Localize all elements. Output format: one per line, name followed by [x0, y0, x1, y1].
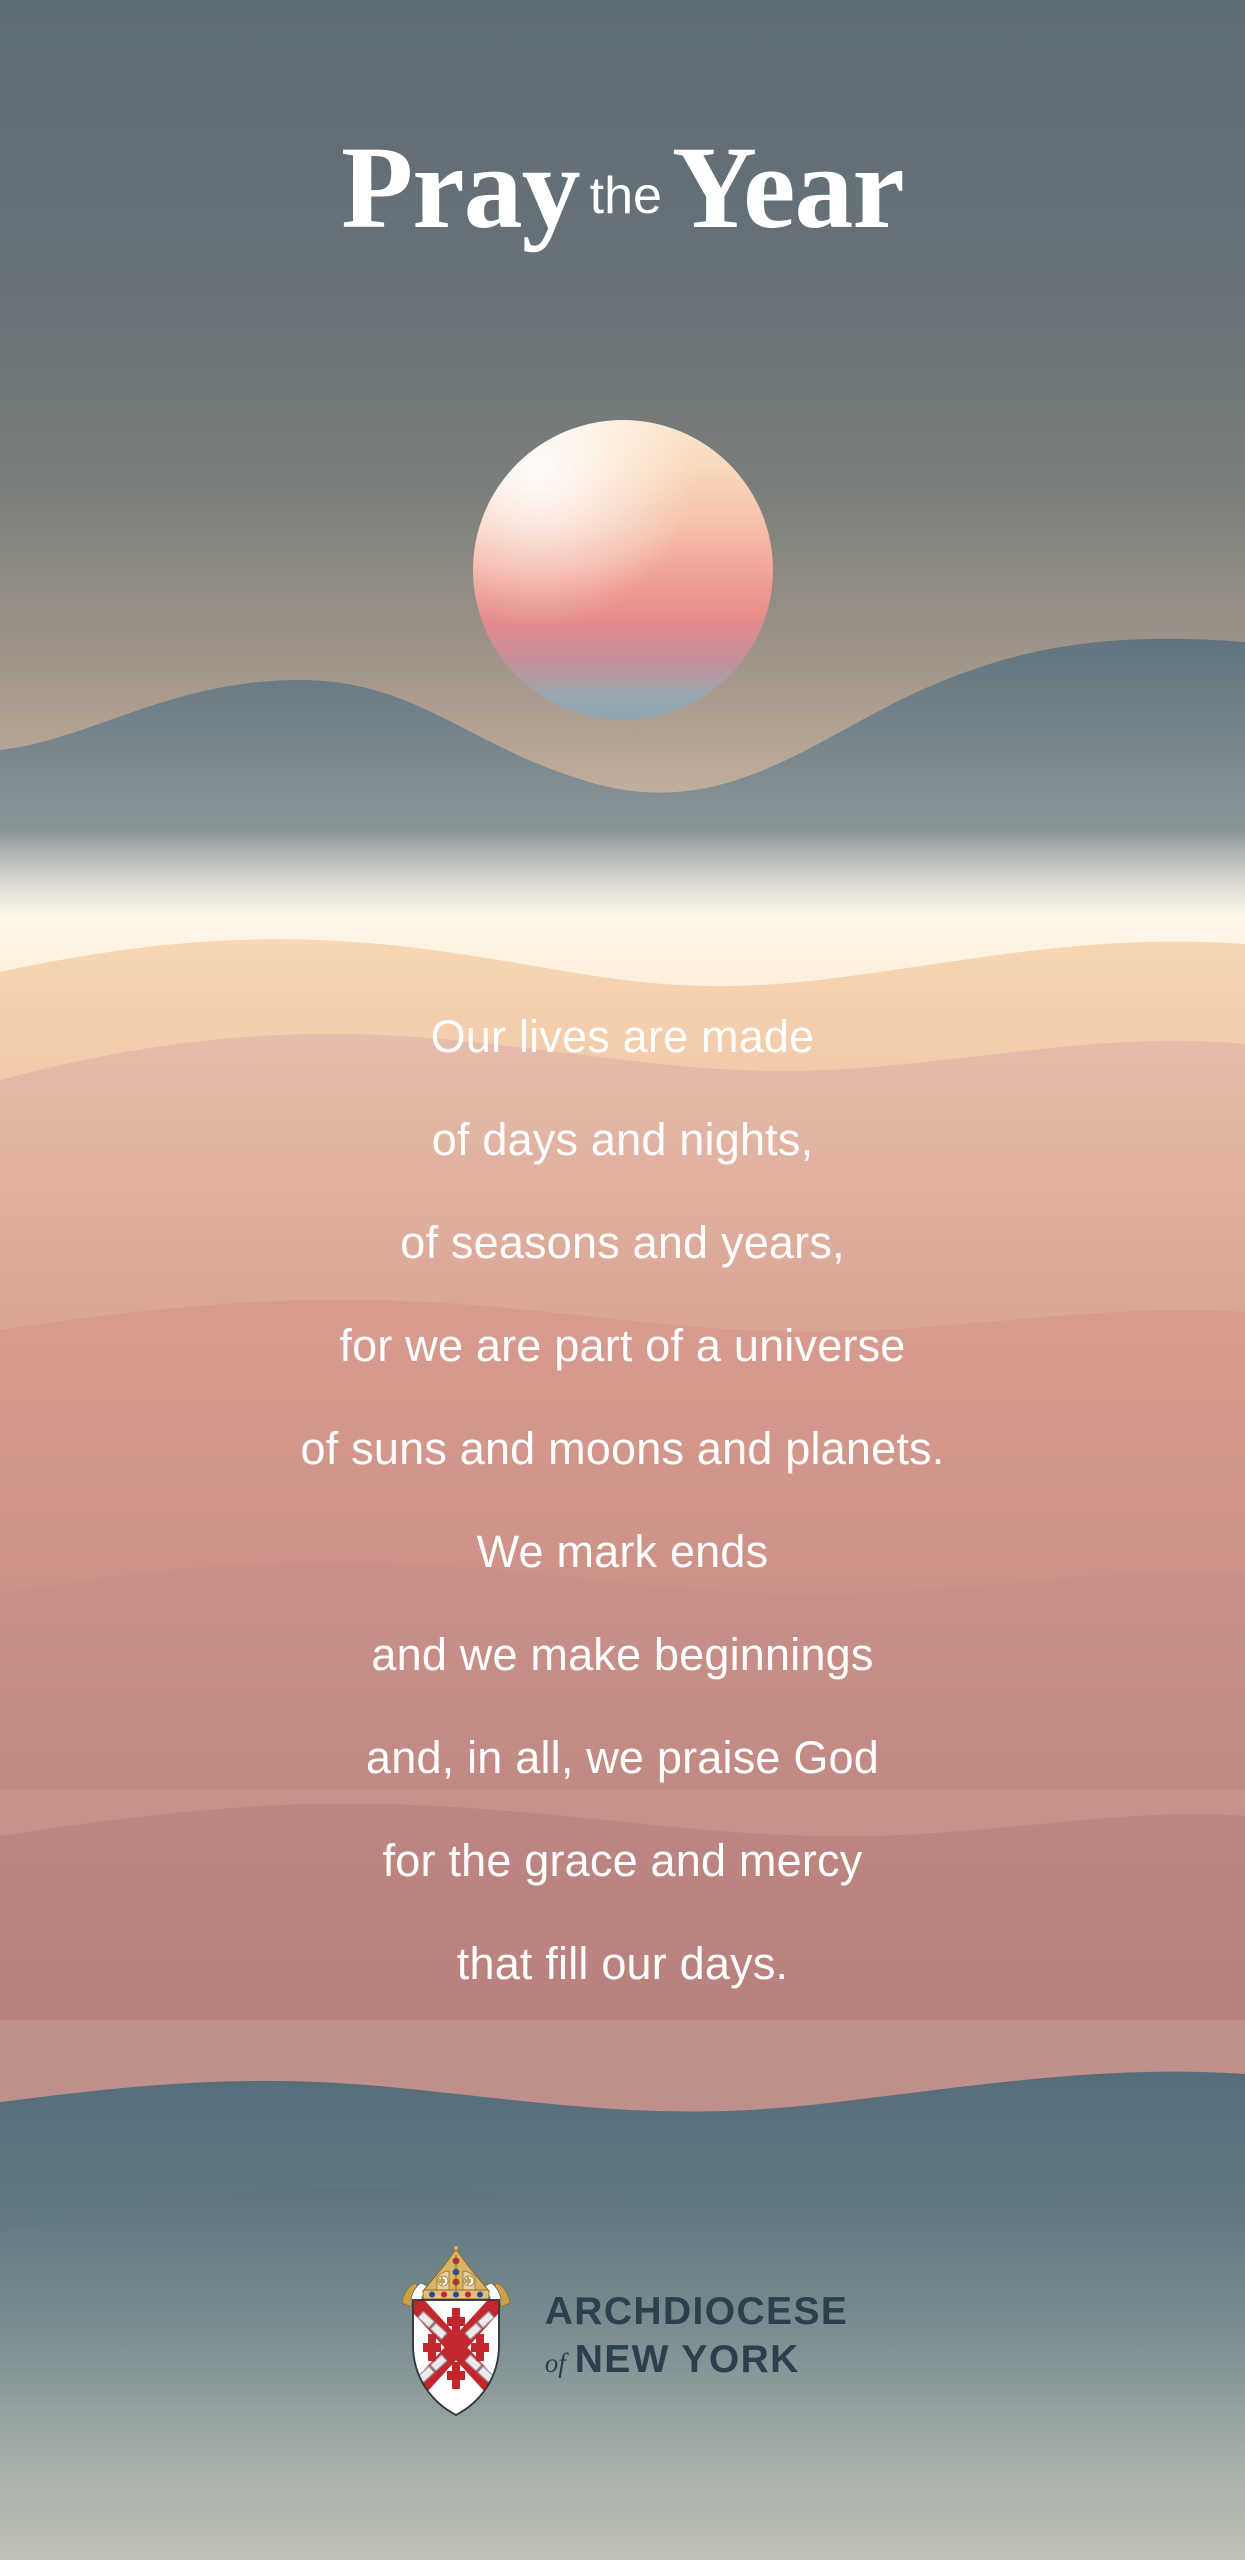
poem-line: and we make beginnings	[0, 1603, 1245, 1706]
title-word-pray: Pray	[341, 122, 579, 253]
page-title: PraytheYear	[0, 120, 1245, 256]
archdiocese-wordmark: ARCHDIOCESE of NEW YORK	[545, 2286, 849, 2379]
archdiocese-logo-lockup: ARCHDIOCESE of NEW YORK	[0, 2245, 1245, 2420]
poem-line: that fill our days.	[0, 1912, 1245, 2015]
wordmark-of: of	[545, 2350, 566, 2377]
poem-line: Our lives are made	[0, 985, 1245, 1088]
poem-block: Our lives are made of days and nights, o…	[0, 985, 1245, 2015]
poem-line: of days and nights,	[0, 1088, 1245, 1191]
wordmark-of-new-york: of NEW YORK	[545, 2340, 800, 2379]
poem-line: of suns and moons and planets.	[0, 1397, 1245, 1500]
poem-line: of seasons and years,	[0, 1191, 1245, 1294]
wordmark-new-york: NEW YORK	[575, 2340, 800, 2379]
title-word-the: the	[580, 167, 672, 225]
poem-line: for the grace and mercy	[0, 1809, 1245, 1912]
poem-line: and, in all, we praise God	[0, 1706, 1245, 1809]
archdiocese-coat-of-arms-icon	[397, 2245, 515, 2420]
poem-line: for we are part of a universe	[0, 1294, 1245, 1397]
title-word-year: Year	[672, 122, 904, 253]
wordmark-archdiocese: ARCHDIOCESE	[545, 2292, 849, 2331]
poem-line: We mark ends	[0, 1500, 1245, 1603]
sun-icon	[473, 420, 773, 720]
poster-canvas: PraytheYear Our lives are made of days a…	[0, 0, 1245, 2560]
